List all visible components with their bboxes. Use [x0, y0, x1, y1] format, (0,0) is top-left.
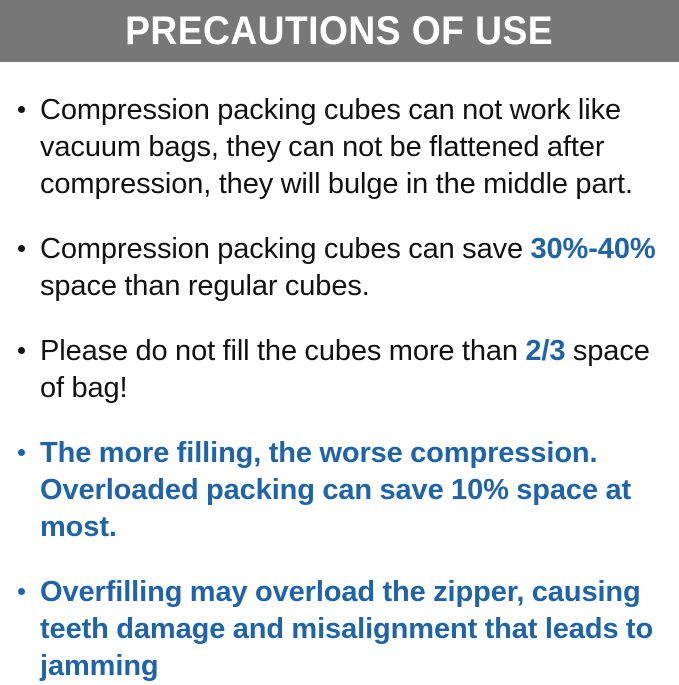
list-item: Please do not fill the cubes more than 2…: [18, 333, 667, 407]
list-item: The more filling, the worse compression.…: [18, 435, 667, 546]
highlight-fill-fraction: 2/3: [525, 335, 565, 367]
list-item-text: Compression packing cubes can save: [40, 233, 530, 265]
bullet-dot-icon: [18, 106, 25, 113]
precautions-list: Compression packing cubes can not work l…: [0, 62, 679, 685]
bullet-dot-icon: [18, 588, 25, 595]
highlight-savings-range: 30%-40%: [530, 233, 655, 265]
list-item-text: Compression packing cubes can not work l…: [40, 94, 633, 200]
page-title: PRECAUTIONS OF USE: [126, 11, 554, 51]
list-item-text: Overfilling may overload the zipper, cau…: [40, 576, 653, 682]
bullet-dot-icon: [18, 245, 25, 252]
precautions-infographic: PRECAUTIONS OF USE Compression packing c…: [0, 0, 679, 645]
list-item-text: Please do not fill the cubes more than: [40, 335, 525, 367]
list-item: Overfilling may overload the zipper, cau…: [18, 574, 667, 685]
bullet-dot-icon: [18, 347, 25, 354]
bullet-dot-icon: [18, 449, 25, 456]
header-banner: PRECAUTIONS OF USE: [0, 0, 679, 62]
list-item-text-tail: space than regular cubes.: [40, 270, 370, 302]
list-item: Compression packing cubes can not work l…: [18, 92, 667, 203]
list-item-text: The more filling, the worse compression.…: [40, 437, 631, 543]
list-item: Compression packing cubes can save 30%-4…: [18, 231, 667, 305]
